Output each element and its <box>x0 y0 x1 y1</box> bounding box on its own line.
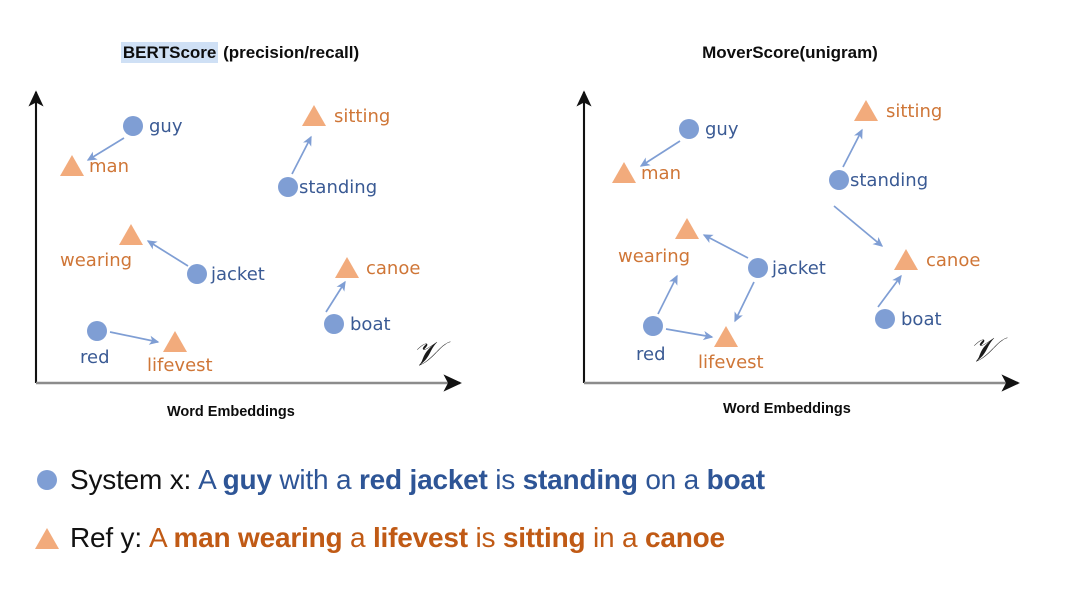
legend-word: on a <box>638 464 707 495</box>
ref-triangle-icon <box>335 257 359 278</box>
arrow-red-lifevest <box>110 332 158 342</box>
x-axis-label: Word Embeddings <box>723 401 851 417</box>
point-label-standing: standing <box>299 177 377 198</box>
legend-label-system: System x:A guy with a red jacket is stan… <box>64 464 765 496</box>
system-dot-icon <box>324 314 344 334</box>
point-label-wearing: wearing <box>60 250 132 271</box>
system-dot-icon <box>829 170 849 190</box>
point-label-red: red <box>636 344 666 365</box>
system-dot-icon <box>679 119 699 139</box>
panel-bertscore: BERTScore (precision/recall) guy man <box>0 0 540 440</box>
ref-triangle-icon <box>60 155 84 176</box>
point-label-guy: guy <box>149 116 183 137</box>
legend: System x:A guy with a red jacket is stan… <box>0 444 1080 594</box>
arrow-red-wearing <box>658 276 677 314</box>
legend-marker-wrap <box>30 470 64 490</box>
arrow-standing-sitting <box>292 137 311 174</box>
legend-keyword: lifevest <box>373 522 468 553</box>
ref-triangle-icon <box>302 105 326 126</box>
point-label-boat: boat <box>350 314 391 335</box>
ref-triangle-icon <box>612 162 636 183</box>
arrow-jacket-wearing <box>148 241 188 266</box>
point-label-canoe: canoe <box>366 258 420 279</box>
axis-symbol-v: 𝒱 <box>969 330 997 370</box>
legend-keyword: canoe <box>645 522 725 553</box>
legend-label-ref: Ref y:A man wearing a lifevest is sittin… <box>64 522 725 554</box>
legend-item-system: System x:A guy with a red jacket is stan… <box>30 458 765 502</box>
system-dot-icon <box>748 258 768 278</box>
arrow-boat-canoe <box>326 282 345 312</box>
ref-triangle-icon <box>119 224 143 245</box>
system-dot-icon <box>875 309 895 329</box>
point-label-man: man <box>641 163 681 184</box>
axis-symbol-v: 𝒱 <box>412 334 440 374</box>
point-label-lifevest: lifevest <box>698 352 764 373</box>
legend-prefix: System x: <box>70 464 191 495</box>
legend-word: is <box>488 464 523 495</box>
legend-keyword: red jacket <box>359 464 488 495</box>
point-label-boat: boat <box>901 309 942 330</box>
point-label-jacket: jacket <box>772 258 826 279</box>
point-label-red: red <box>80 347 110 368</box>
point-label-jacket: jacket <box>211 264 265 285</box>
system-dot-icon <box>187 264 207 284</box>
scatter-plot-bertscore <box>0 0 540 440</box>
legend-keyword: man wearing <box>173 522 342 553</box>
legend-keyword: standing <box>523 464 638 495</box>
arrow-standing-canoe <box>834 206 882 246</box>
scatter-plot-moverscore <box>548 0 1080 440</box>
point-label-sitting: sitting <box>886 101 942 122</box>
ref-triangle-icon <box>163 331 187 352</box>
system-dot-icon <box>87 321 107 341</box>
point-label-man: man <box>89 156 129 177</box>
point-label-guy: guy <box>705 119 739 140</box>
legend-word: a <box>342 522 373 553</box>
legend-sentence: A man wearing a lifevest is sitting in a… <box>149 522 725 553</box>
arrow-jacket-wearing <box>704 235 748 258</box>
ref-triangle-icon <box>35 528 59 549</box>
point-label-standing: standing <box>850 170 928 191</box>
arrow-red-lifevest <box>666 329 712 337</box>
legend-keyword: guy <box>223 464 272 495</box>
legend-word: with a <box>272 464 359 495</box>
legend-sentence: A guy with a red jacket is standing on a… <box>198 464 765 495</box>
legend-prefix: Ref y: <box>70 522 142 553</box>
system-dot-icon <box>37 470 57 490</box>
system-dot-icon <box>123 116 143 136</box>
legend-item-ref: Ref y:A man wearing a lifevest is sittin… <box>30 516 725 560</box>
ref-triangle-icon <box>854 100 878 121</box>
point-label-lifevest: lifevest <box>147 355 213 376</box>
system-dot-icon <box>643 316 663 336</box>
legend-keyword: sitting <box>503 522 586 553</box>
arrow-boat-canoe <box>878 276 901 307</box>
ref-triangle-icon <box>894 249 918 270</box>
ref-triangle-icon <box>675 218 699 239</box>
system-dot-icon <box>278 177 298 197</box>
arrow-standing-sitting <box>843 130 862 167</box>
arrow-jacket-lifevest <box>735 282 754 321</box>
legend-word: in a <box>585 522 645 553</box>
point-label-sitting: sitting <box>334 106 390 127</box>
legend-word: A <box>198 464 223 495</box>
panel-moverscore: MoverScore(unigram) guy man sitting stan… <box>548 0 1080 440</box>
legend-word: is <box>468 522 503 553</box>
point-label-wearing: wearing <box>618 246 690 267</box>
legend-keyword: boat <box>707 464 765 495</box>
ref-triangle-icon <box>714 326 738 347</box>
legend-word: A <box>149 522 174 553</box>
legend-marker-wrap <box>30 528 64 549</box>
point-label-canoe: canoe <box>926 250 980 271</box>
x-axis-label: Word Embeddings <box>167 404 295 420</box>
